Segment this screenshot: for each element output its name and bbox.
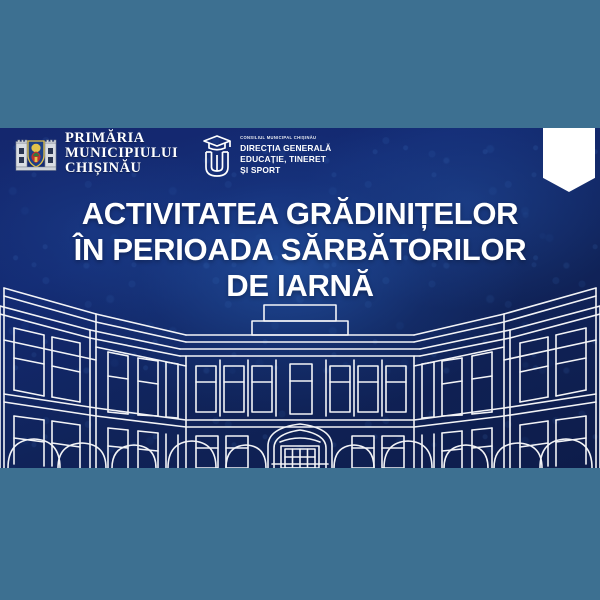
dgets-title: DIRECȚIA GENERALĂ EDUCAȚIE, TINERET ȘI S… bbox=[240, 143, 331, 176]
logo-row: PRIMĂRIA MUNICIPIULUI CHIȘINĂU bbox=[14, 131, 331, 179]
headline-line-1: ACTIVITATEA GRĂDINIȚELOR bbox=[0, 196, 600, 232]
dgets-kicker: CONSILIUL MUNICIPAL CHIȘINĂU bbox=[240, 136, 331, 141]
headline-line-2: ÎN PERIOADA SĂRBĂTORILOR bbox=[0, 232, 600, 268]
dgets-logo: CONSILIUL MUNICIPAL CHIȘINĂU DIRECȚIA GE… bbox=[200, 133, 331, 179]
primaria-logo: PRIMĂRIA MUNICIPIULUI CHIȘINĂU bbox=[14, 131, 178, 177]
headline-line-3: DE IARNĂ bbox=[0, 268, 600, 304]
dgets-label-group: CONSILIUL MUNICIPAL CHIȘINĂU DIRECȚIA GE… bbox=[240, 136, 331, 176]
page-title: ACTIVITATEA GRĂDINIȚELOR ÎN PERIOADA SĂR… bbox=[0, 196, 600, 304]
poster: PRIMĂRIA MUNICIPIULUI CHIȘINĂU bbox=[0, 0, 600, 600]
primaria-label: PRIMĂRIA MUNICIPIULUI CHIȘINĂU bbox=[65, 131, 178, 177]
graduation-cap-monogram-icon bbox=[200, 133, 234, 179]
chisinau-coat-of-arms-icon bbox=[14, 134, 58, 174]
